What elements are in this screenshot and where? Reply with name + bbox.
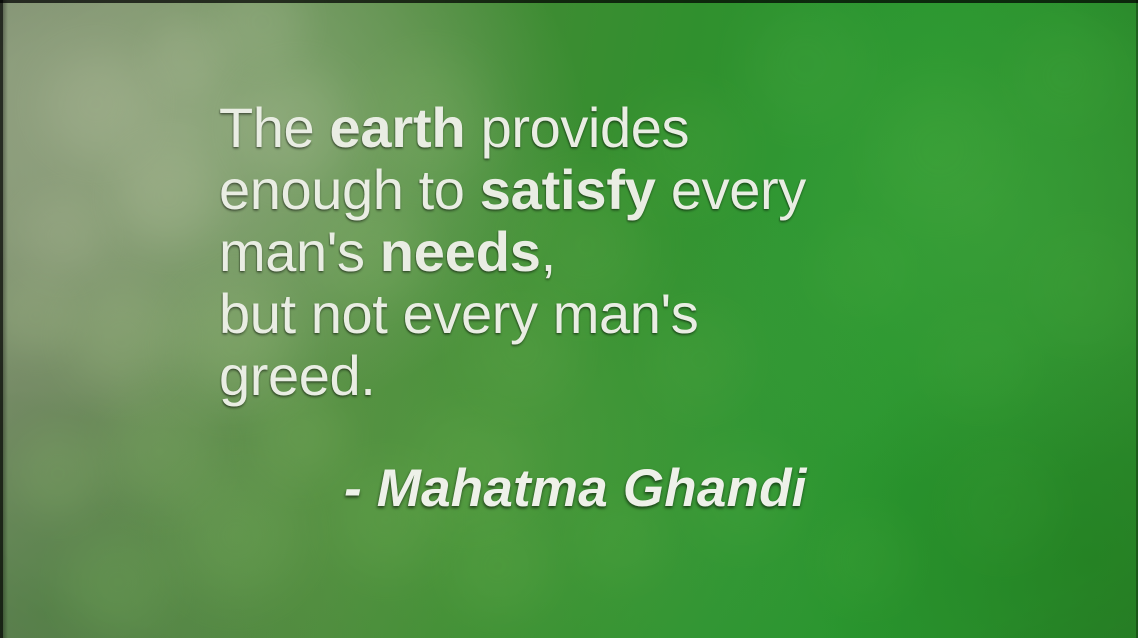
quote-emphasis: needs [380,220,541,283]
quote-line: greed. [219,345,979,407]
quote-line: enough to satisfy every [219,159,979,221]
quote-segment: provides [465,96,689,159]
attribution-text: - Mahatma Ghandi [344,459,807,519]
quote-emphasis: earth [329,96,465,159]
quote-line: The earth provides [219,97,979,159]
quote-segment: The [219,96,329,159]
quote-segment: enough to [219,158,480,221]
text-layer: The earth providesenough to satisfy ever… [0,0,1138,638]
quote-line: man's needs, [219,221,979,283]
quote-image: The earth providesenough to satisfy ever… [0,0,1138,638]
quote-segment: , [541,220,556,283]
quote-segment: every [656,158,806,221]
quote-emphasis: satisfy [480,158,656,221]
quote-line: but not every man's [219,283,979,345]
quote-segment: but not every man's [219,282,698,345]
frame-edge-left-soft [3,0,8,638]
quote-segment: man's [219,220,380,283]
frame-edge-top [0,0,1138,3]
quote-text: The earth providesenough to satisfy ever… [219,97,979,407]
quote-segment: greed. [219,344,375,407]
